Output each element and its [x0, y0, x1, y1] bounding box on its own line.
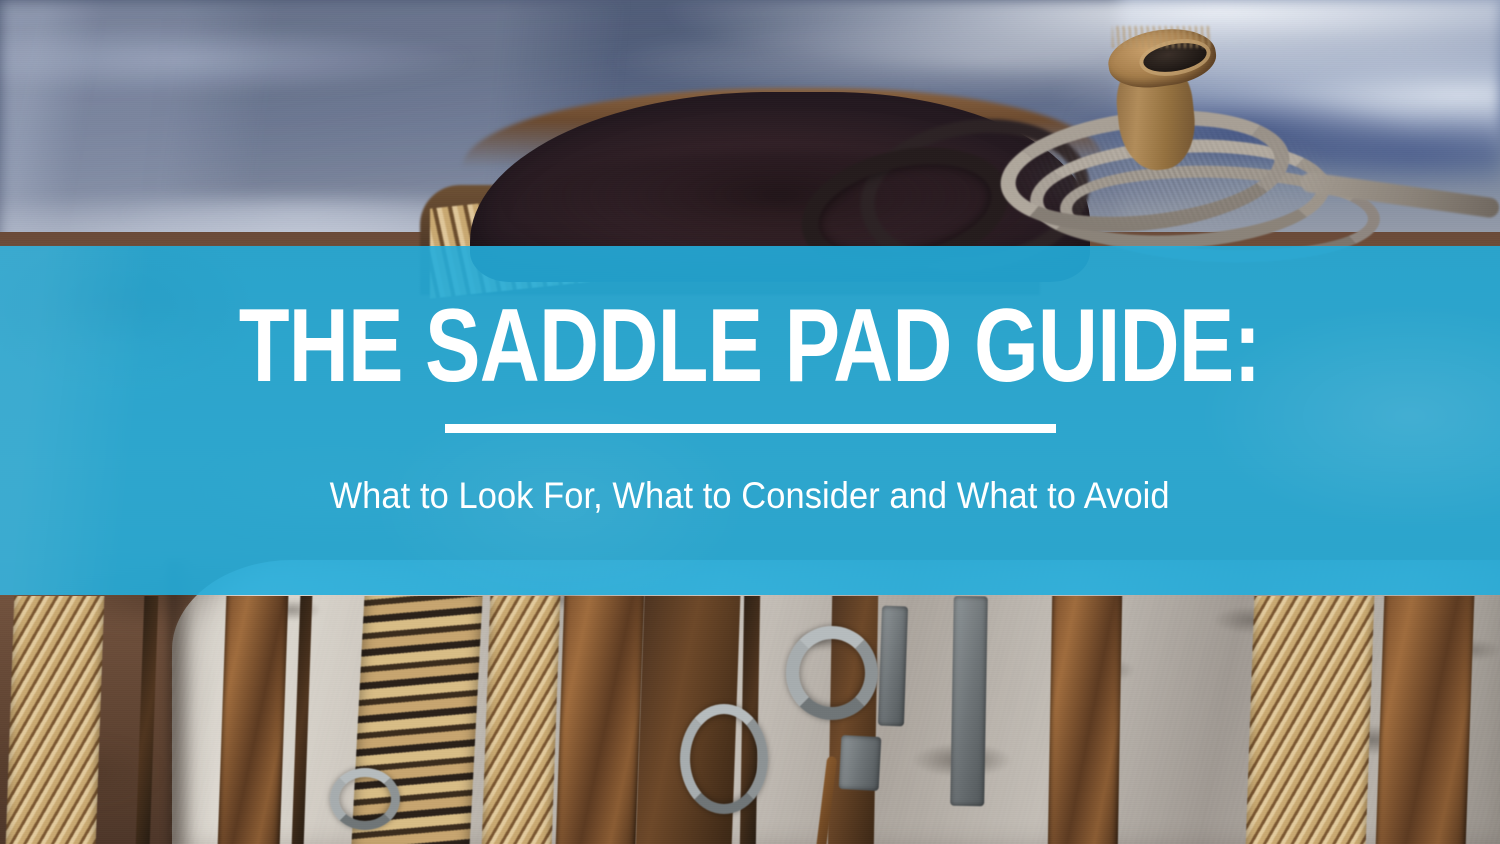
strap-leather-3 [1048, 596, 1123, 844]
title-divider [445, 424, 1056, 433]
lariat-texture [990, 105, 1500, 265]
strap-braid-2 [481, 596, 560, 844]
buckle-3 [839, 735, 882, 791]
strap-leather-4 [1375, 596, 1474, 844]
strap-thin-2 [291, 596, 312, 844]
cyan-banner-overlay: THE SADDLE PAD GUIDE: What to Look For, … [0, 246, 1500, 595]
buckle-2 [950, 596, 988, 806]
strap-leather-2 [555, 596, 644, 844]
strap-braid-3 [1245, 596, 1374, 844]
strap-braid-left [5, 596, 104, 844]
hero-banner-image: THE SADDLE PAD GUIDE: What to Look For, … [0, 0, 1500, 844]
page-subtitle: What to Look For, What to Consider and W… [330, 475, 1170, 517]
strap-leather-1 [217, 596, 288, 844]
saddle-horn-fray [1112, 26, 1212, 48]
buckle-1 [878, 606, 908, 727]
cinch-ring-3 [680, 704, 768, 814]
tack-detail-region [0, 596, 1500, 844]
cinch-ring-1 [786, 626, 878, 720]
banner-content: THE SADDLE PAD GUIDE: What to Look For, … [0, 246, 1500, 595]
page-title: THE SADDLE PAD GUIDE: [239, 294, 1261, 398]
strap-thin-1 [135, 596, 158, 844]
cinch-ring-2 [330, 768, 400, 830]
